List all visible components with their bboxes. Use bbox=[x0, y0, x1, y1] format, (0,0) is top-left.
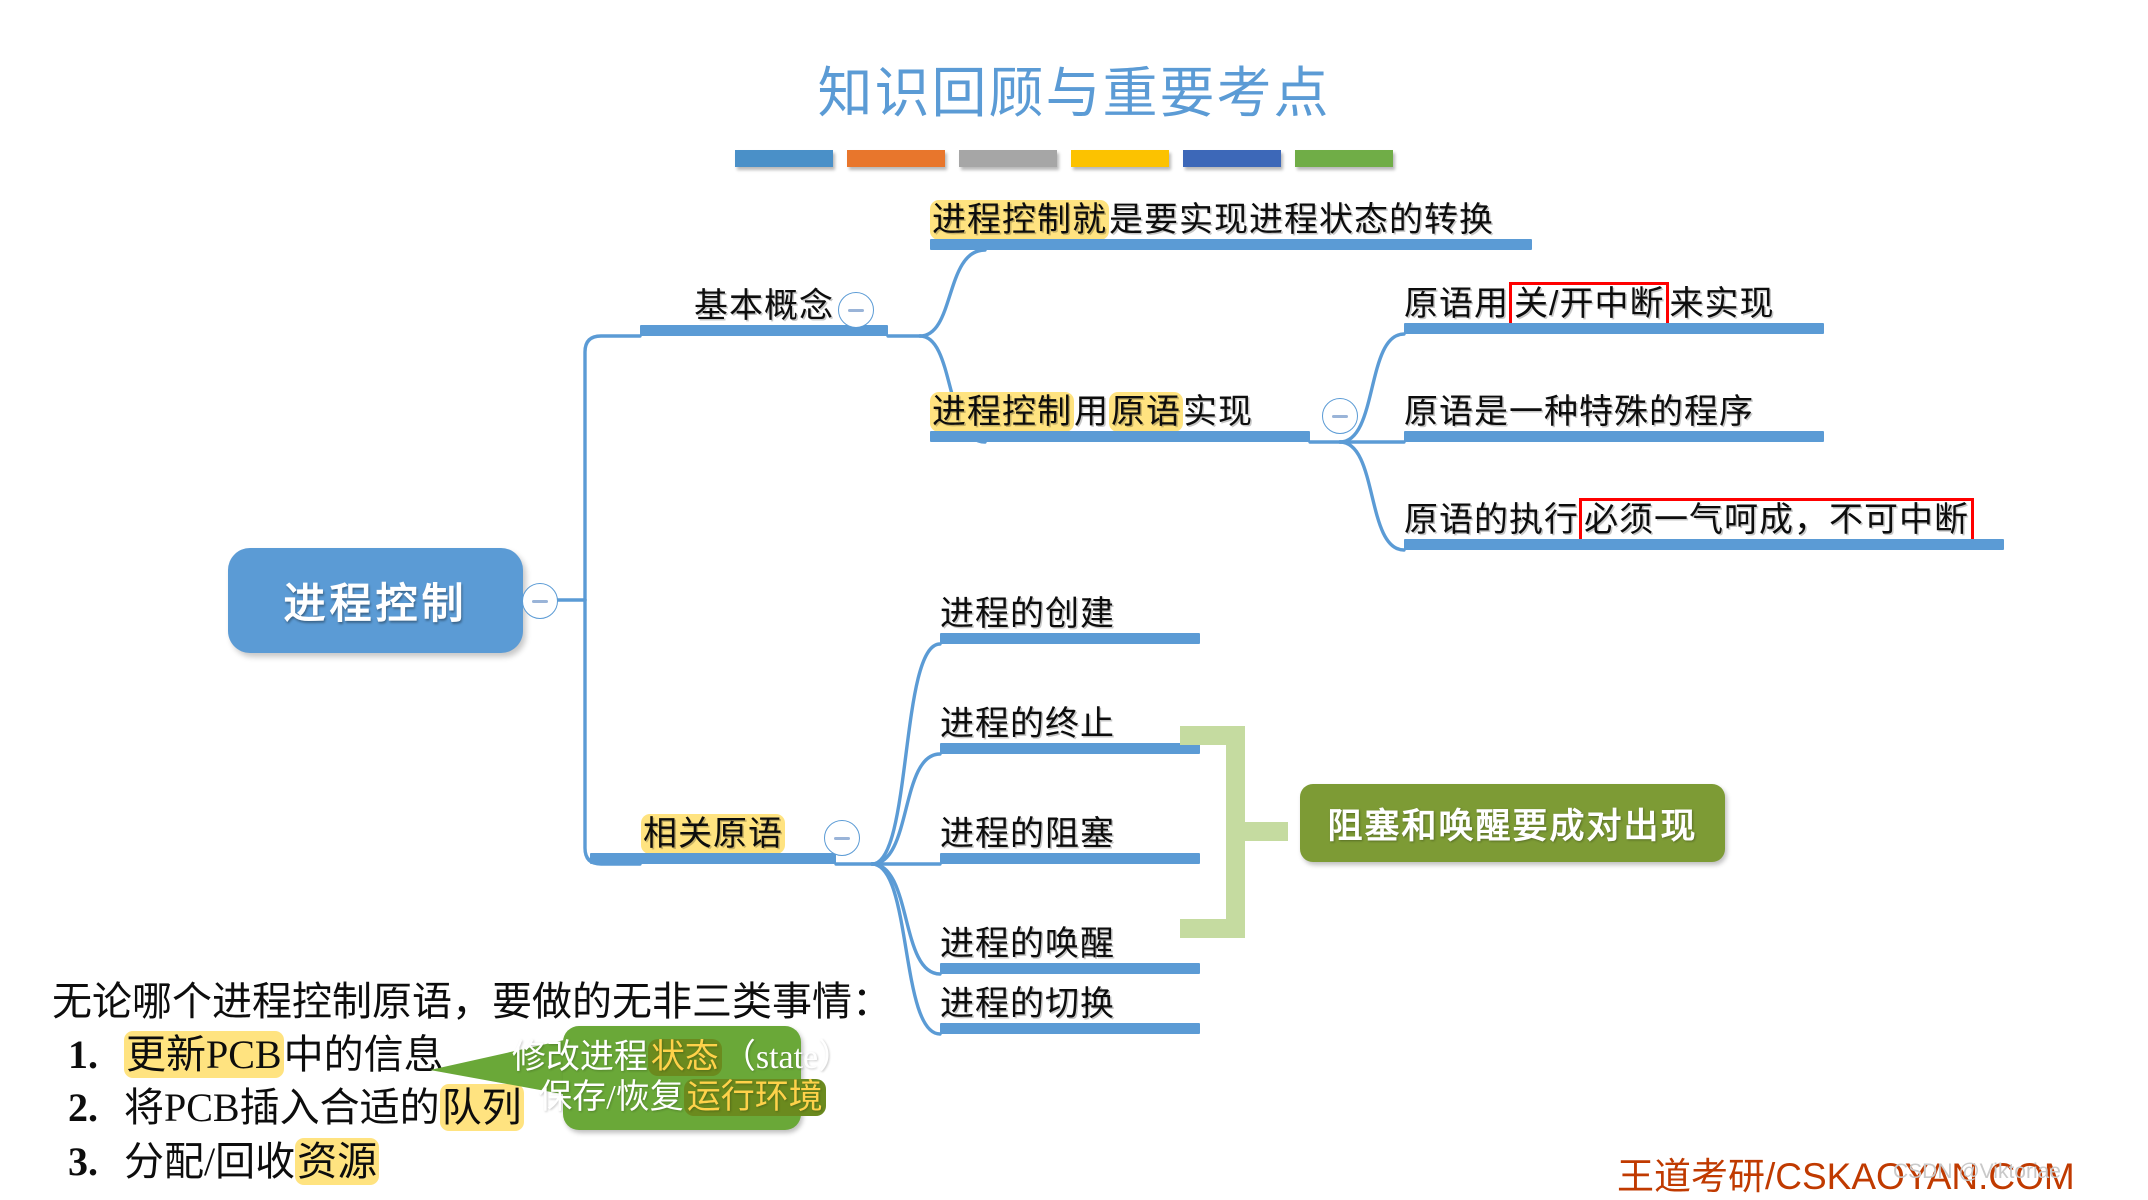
title-decoration-bars bbox=[735, 150, 1393, 167]
state-callout-l2a: 保存/恢复 bbox=[538, 1079, 683, 1116]
node-label-rest: 是要实现进程状态的转换 bbox=[1109, 201, 1494, 239]
node-process-control-state-transition[interactable]: 进程控制就是要实现进程状态的转换 bbox=[930, 196, 1532, 250]
minus-glyph bbox=[834, 837, 850, 840]
title-bar-3 bbox=[959, 150, 1057, 167]
node-underline bbox=[940, 633, 1200, 644]
pair-note-callout: 阻塞和唤醒要成对出现 bbox=[1300, 784, 1725, 862]
node-underline bbox=[940, 1023, 1200, 1034]
node-label-pre: 原语用 bbox=[1404, 285, 1509, 323]
minus-glyph bbox=[848, 309, 864, 312]
root-node-label: 进程控制 bbox=[283, 570, 467, 631]
bracket-pointer-stub bbox=[1240, 822, 1288, 841]
bracket-bottom-arm bbox=[1180, 919, 1245, 938]
state-callout-text: 修改进程状态（state） 保存/恢复运行环境 bbox=[563, 1026, 801, 1130]
branch-label-highlight: 相关原语 bbox=[641, 814, 785, 854]
node-label: 原语用关/开中断来实现 bbox=[1404, 276, 1774, 325]
state-callout-line-2: 保存/恢复运行环境 bbox=[538, 1078, 825, 1118]
node-primitive-must-be-atomic[interactable]: 原语的执行必须一气呵成，不可中断 bbox=[1404, 496, 2004, 550]
node-process-control-by-primitive[interactable]: 进程控制用原语实现 bbox=[930, 388, 1310, 442]
state-callout-l2-highlight: 运行环境 bbox=[684, 1079, 826, 1116]
node-underline bbox=[940, 743, 1200, 754]
list-item: 3.分配/回收资源 bbox=[68, 1136, 892, 1187]
node-underline bbox=[590, 853, 836, 864]
branch-related-primitives[interactable]: 相关原语 bbox=[590, 808, 836, 864]
node-label-post: 来实现 bbox=[1669, 285, 1774, 323]
node-label-seg2: 用 bbox=[1074, 393, 1109, 431]
title-bar-1 bbox=[735, 150, 833, 167]
node-label-seg1: 进程控制 bbox=[930, 392, 1074, 432]
node-label: 进程的阻塞 bbox=[940, 806, 1115, 855]
minus-circle-icon-primitive[interactable] bbox=[1322, 398, 1358, 434]
node-underline bbox=[1404, 539, 2004, 550]
state-callout-l1c: （state） bbox=[722, 1039, 852, 1076]
node-primitive-is-special-program[interactable]: 原语是一种特殊的程序 bbox=[1404, 388, 1824, 442]
branch-related-primitives-label: 相关原语 bbox=[641, 806, 785, 855]
node-underline bbox=[930, 431, 1310, 442]
title-bar-2 bbox=[847, 150, 945, 167]
bottom-notes-intro: 无论哪个进程控制原语，要做的无非三类事情： bbox=[52, 976, 892, 1027]
node-label-seg3: 原语 bbox=[1109, 392, 1183, 432]
node-label: 进程的切换 bbox=[940, 976, 1115, 1025]
node-label-seg4: 实现 bbox=[1183, 393, 1253, 431]
node-label-boxed: 关/开中断 bbox=[1509, 282, 1669, 326]
minus-circle-icon-root[interactable] bbox=[522, 583, 558, 619]
minus-glyph bbox=[1332, 415, 1348, 418]
slide-canvas: 知识回顾与重要考点 bbox=[0, 0, 2148, 1198]
minus-circle-icon-related-primitives[interactable] bbox=[824, 820, 860, 856]
node-process-blocking[interactable]: 进程的阻塞 bbox=[940, 810, 1200, 864]
node-label: 进程控制就是要实现进程状态的转换 bbox=[930, 192, 1494, 241]
minus-glyph bbox=[532, 600, 548, 603]
list-item-highlight: 更新PCB bbox=[124, 1031, 284, 1078]
state-callout-l1a: 修改进程 bbox=[512, 1039, 648, 1076]
state-callout: 修改进程状态（state） 保存/恢复运行环境 bbox=[563, 1026, 801, 1130]
state-callout-line-1: 修改进程状态（state） bbox=[512, 1038, 852, 1078]
node-underline bbox=[930, 239, 1532, 250]
pair-note-label: 阻塞和唤醒要成对出现 bbox=[1327, 798, 1697, 849]
minus-circle-icon-basic-concept[interactable] bbox=[838, 292, 874, 328]
list-item-rest: 将PCB插入合适的 bbox=[124, 1085, 440, 1130]
state-callout-l1-highlight: 状态 bbox=[648, 1039, 722, 1076]
branch-basic-concept-label: 基本概念 bbox=[694, 278, 834, 327]
node-underline bbox=[940, 853, 1200, 864]
title-bar-5 bbox=[1183, 150, 1281, 167]
list-item-number: 3. bbox=[68, 1136, 124, 1187]
node-label: 进程的终止 bbox=[940, 696, 1115, 745]
page-title: 知识回顾与重要考点 bbox=[0, 48, 2148, 128]
node-label-boxed: 必须一气呵成，不可中断 bbox=[1579, 498, 1974, 542]
list-item-number: 1. bbox=[68, 1029, 124, 1080]
node-label: 进程的唤醒 bbox=[940, 916, 1115, 965]
list-item-highlight: 队列 bbox=[440, 1084, 524, 1131]
csdn-watermark: CSDN @Viktoriae bbox=[1893, 1160, 2061, 1184]
node-process-wakeup[interactable]: 进程的唤醒 bbox=[940, 920, 1200, 974]
root-node-process-control[interactable]: 进程控制 bbox=[228, 548, 523, 653]
title-bar-6 bbox=[1295, 150, 1393, 167]
node-label: 进程控制用原语实现 bbox=[930, 384, 1253, 433]
node-label: 进程的创建 bbox=[940, 586, 1115, 635]
green-bracket bbox=[1180, 726, 1300, 938]
node-underline bbox=[1404, 323, 1824, 334]
list-item-rest: 分配/回收 bbox=[124, 1139, 295, 1184]
node-underline bbox=[1404, 431, 1824, 442]
list-item-rest: 中的信息 bbox=[284, 1032, 444, 1077]
list-item-highlight: 资源 bbox=[295, 1138, 379, 1185]
node-process-creation[interactable]: 进程的创建 bbox=[940, 590, 1200, 644]
title-bar-4 bbox=[1071, 150, 1169, 167]
node-primitive-uses-interrupt-toggle[interactable]: 原语用关/开中断来实现 bbox=[1404, 280, 1824, 334]
node-underline bbox=[940, 963, 1200, 974]
list-item-number: 2. bbox=[68, 1082, 124, 1133]
node-label: 原语的执行必须一气呵成，不可中断 bbox=[1404, 492, 1974, 541]
node-label-pre: 原语的执行 bbox=[1404, 501, 1579, 539]
node-label-highlight: 进程控制就 bbox=[930, 200, 1109, 240]
node-process-switch[interactable]: 进程的切换 bbox=[940, 980, 1200, 1034]
node-process-termination[interactable]: 进程的终止 bbox=[940, 700, 1200, 754]
node-label: 原语是一种特殊的程序 bbox=[1404, 384, 1754, 433]
